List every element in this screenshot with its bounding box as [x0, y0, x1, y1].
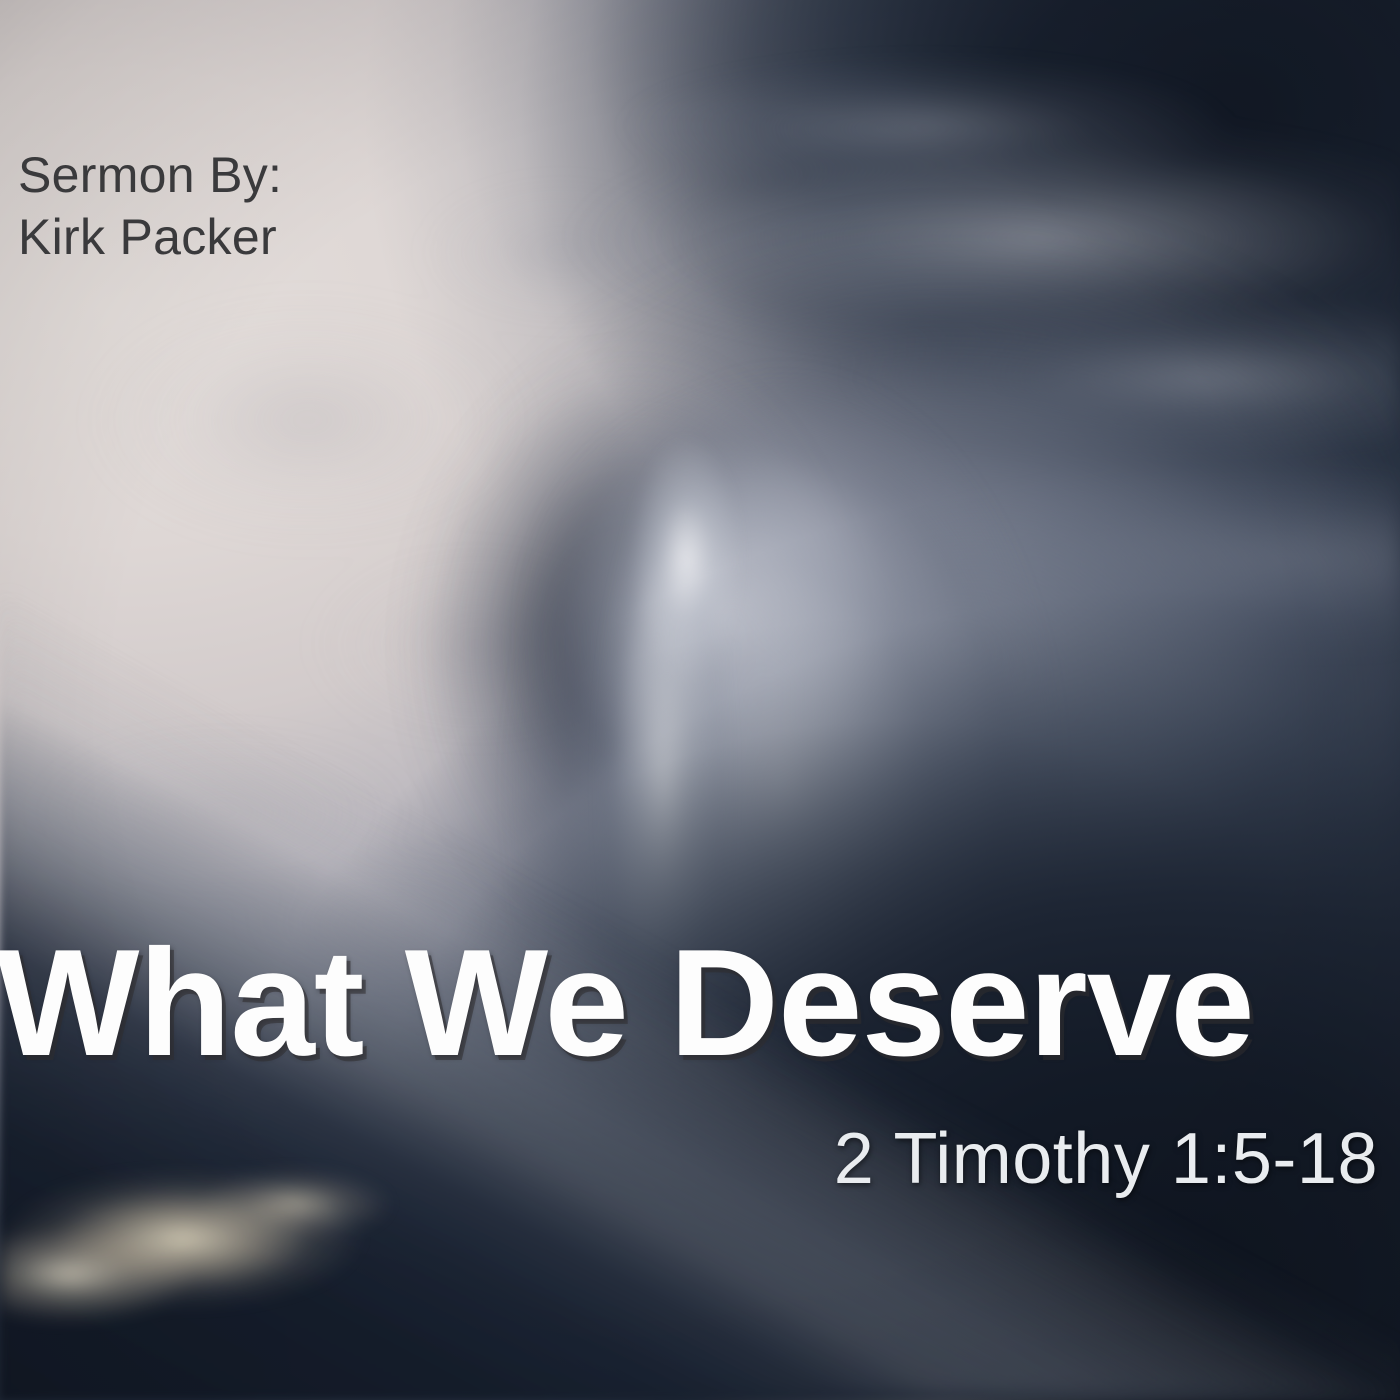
sermon-title: What We Deserve [0, 916, 1254, 1091]
sermon-by-label: Sermon By: [18, 144, 282, 206]
sermon-credit-block: Sermon By: Kirk Packer [18, 144, 282, 268]
scripture-reference: 2 Timothy 1:5-18 [834, 1118, 1378, 1200]
sermon-cover-artwork: Sermon By: Kirk Packer What We Deserve 2… [0, 0, 1400, 1400]
speaker-name: Kirk Packer [18, 206, 282, 268]
